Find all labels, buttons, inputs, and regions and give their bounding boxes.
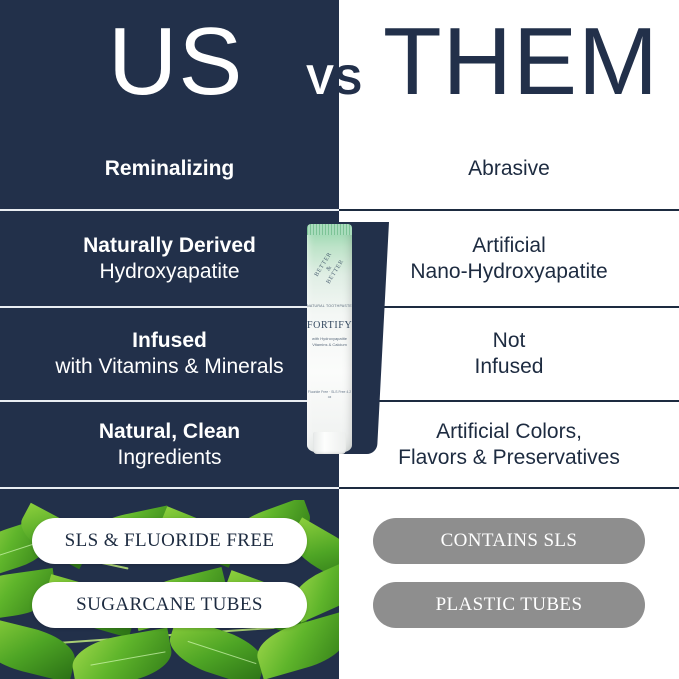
product-description-label: with Hydroxyapatite Vitamins & Calcium: [307, 336, 352, 348]
them-badge-contains-sls[interactable]: CONTAINS SLS: [373, 518, 645, 564]
them-cell: Not Infused: [339, 308, 679, 400]
us-title: US: [108, 12, 243, 112]
us-row-line1: Naturally Derived: [83, 233, 256, 259]
product-tube: BETTER & BETTER NATURAL TOOTHPASTE FORTI…: [307, 224, 352, 452]
them-row-line1: Not: [493, 328, 526, 354]
them-badge-list: CONTAINS SLS PLASTIC TUBES: [339, 500, 679, 679]
us-row-line1: Reminalizing: [105, 156, 235, 182]
them-cell: Abrasive: [339, 128, 679, 210]
product-tube-cap: [313, 432, 346, 454]
them-row-line2: Infused: [475, 354, 544, 380]
us-row-line1: Infused: [132, 328, 207, 354]
comparison-infographic: US VS THEM Reminalizing Abrasive Natural…: [0, 0, 679, 679]
us-cell: Infused with Vitamins & Minerals: [0, 308, 339, 400]
them-title: THEM: [383, 12, 659, 112]
us-cell: Reminalizing: [0, 128, 339, 210]
us-row-line2: with Vitamins & Minerals: [55, 354, 283, 380]
them-badge-plastic-tubes[interactable]: PLASTIC TUBES: [373, 582, 645, 628]
vs-label-v: V: [306, 56, 334, 103]
them-row-line1: Artificial: [472, 233, 546, 259]
comparison-row: Reminalizing Abrasive: [0, 128, 679, 210]
them-cell: Artificial Colors, Flavors & Preservativ…: [339, 402, 679, 487]
product-tube-crimp: [307, 224, 352, 235]
vs-label: VS: [306, 58, 362, 102]
us-badge-sugarcane-tubes[interactable]: SUGARCANE TUBES: [32, 582, 307, 628]
us-row-line1: Natural, Clean: [99, 419, 240, 445]
them-row-line2: Nano-Hydroxyapatite: [410, 259, 607, 285]
vs-label-s: S: [334, 56, 362, 103]
product-subtitle-label: NATURAL TOOTHPASTE: [307, 304, 352, 309]
them-row-line2: Flavors & Preservatives: [398, 445, 620, 471]
them-cell: Artificial Nano-Hydroxyapatite: [339, 211, 679, 306]
them-row-line1: Abrasive: [468, 156, 550, 182]
row-separator: [0, 487, 679, 489]
them-row-line1: Artificial Colors,: [436, 419, 582, 445]
header: US VS THEM: [0, 0, 679, 128]
us-badge-list: SLS & FLUORIDE FREE SUGARCANE TUBES: [0, 500, 339, 679]
us-cell: Natural, Clean Ingredients: [0, 402, 339, 487]
us-row-line2: Hydroxyapatite: [99, 259, 239, 285]
product-footer-label: Fluoride Free · SLS Free 4.2 oz: [307, 390, 352, 400]
us-row-line2: Ingredients: [118, 445, 222, 471]
us-badge-sls-fluoride-free[interactable]: SLS & FLUORIDE FREE: [32, 518, 307, 564]
us-cell: Naturally Derived Hydroxyapatite: [0, 211, 339, 306]
product-title-label: FORTIFY: [307, 320, 352, 332]
